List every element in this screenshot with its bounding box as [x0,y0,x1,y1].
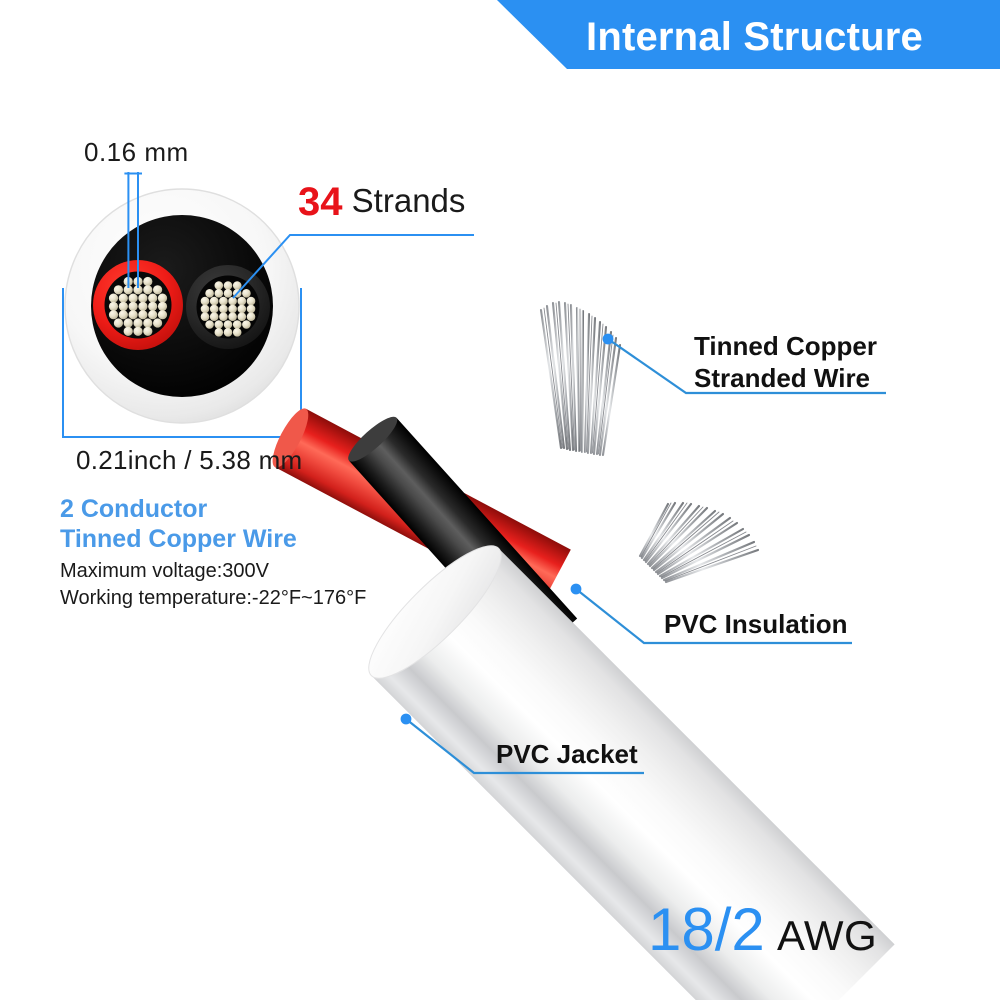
summary-heading-line1: 2 Conductor [60,494,297,524]
callout-tinned-copper-stranded-wire: Tinned Copper Stranded Wire [694,330,877,394]
strand-count-number: 34 [298,180,343,224]
callout-pvc-insulation: PVC Insulation [664,608,847,640]
gauge-unit: AWG [777,912,877,959]
callout-tinned-line2: Stranded Wire [694,362,877,394]
spec-list: Maximum voltage:300V Working temperature… [60,558,366,612]
strand-count-label: 34 Strands [298,180,465,225]
cable-illustration [266,302,895,1000]
spec-working-temperature: Working temperature:-22°F~176°F [60,585,366,612]
gauge-size: 18/2 [648,896,765,963]
spec-max-voltage: Maximum voltage:300V [60,558,366,585]
summary-heading-line2: Tinned Copper Wire [60,524,297,554]
callout-pvc-jacket: PVC Jacket [496,738,638,770]
strand-diameter-label: 0.16 mm [84,137,189,168]
cross-section-black-conductor [186,265,270,349]
callout-tinned-line1: Tinned Copper [694,330,877,362]
gauge-label: 18/2 AWG [648,900,877,960]
page-title: Internal Structure [586,9,986,65]
outer-diameter-label: 0.21inch / 5.38 mm [76,445,303,476]
summary-heading: 2 Conductor Tinned Copper Wire [60,494,297,554]
infographic-root: Internal Structure 0.16 mm 0.21inch / 5.… [0,0,1000,1000]
black-wire-strand-tip [640,503,758,582]
header-banner-text-wrap: Internal Structure [0,0,1000,76]
strand-count-word: Strands [352,182,466,219]
